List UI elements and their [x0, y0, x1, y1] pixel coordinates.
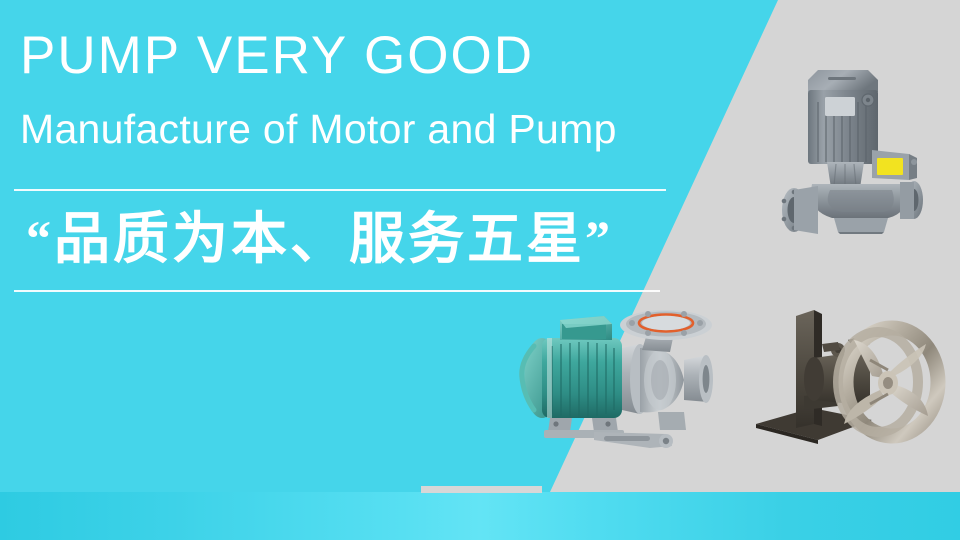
product-submersible-mixer [752, 300, 948, 452]
slogan-open-quote: “ [26, 210, 54, 266]
slogan-text: 品质为本、服务五星 [54, 207, 585, 272]
product-vertical-inline-pump [772, 62, 936, 234]
vertical-inline-pump-illustration [772, 62, 936, 234]
divider-top [14, 189, 666, 191]
slide-indicator-bar[interactable] [421, 486, 542, 493]
text-block: PUMP VERY GOOD Manufacture of Motor and … [0, 0, 700, 492]
submersible-mixer-illustration [752, 300, 948, 452]
slogan-close-quote: ” [585, 210, 613, 266]
divider-bottom [14, 290, 660, 292]
bottom-color-band [0, 492, 960, 540]
banner-slide: PUMP VERY GOOD Manufacture of Motor and … [0, 0, 960, 540]
page-subtitle: Manufacture of Motor and Pump [20, 104, 617, 154]
page-title: PUMP VERY GOOD [20, 26, 534, 86]
slogan: “品质为本、服务五星” [26, 200, 613, 278]
